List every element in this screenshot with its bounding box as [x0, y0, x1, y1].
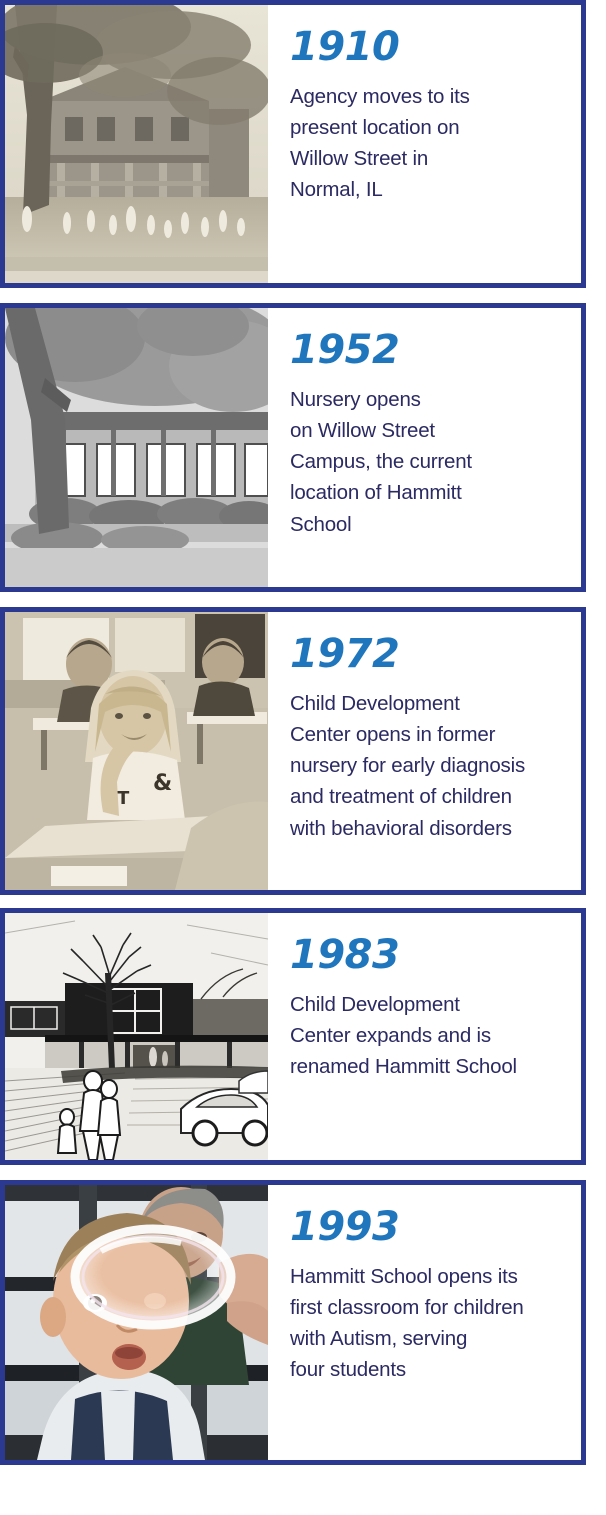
timeline-card-text: 1983 Child Development Center expands an… [268, 913, 581, 1160]
svg-text:&: & [153, 771, 172, 796]
timeline-year: 1910 [290, 27, 567, 67]
timeline-card: 1910 Agency moves to its present locatio… [0, 0, 586, 288]
timeline-description: Child Development Center opens in former… [290, 688, 567, 844]
timeline-description: Hammitt School opens its first classroom… [290, 1261, 567, 1386]
timeline-card: 1993 Hammitt School opens its first clas… [0, 1180, 586, 1465]
photo-1952-nursery-building [5, 308, 268, 587]
timeline-card: 1952 Nursery opens on Willow Street Camp… [0, 303, 586, 592]
svg-text:T: T [117, 788, 130, 809]
timeline-year: 1952 [290, 330, 567, 370]
timeline-card-text: 1993 Hammitt School opens its first clas… [268, 1185, 581, 1460]
photo-1993-boy-bubble [5, 1185, 268, 1460]
timeline-card: & T 1972 Child Development Center opens … [0, 607, 586, 895]
photo-1983-architectural-drawing [5, 913, 268, 1160]
timeline-card-text: 1972 Child Development Center opens in f… [268, 612, 581, 890]
timeline-card-text: 1952 Nursery opens on Willow Street Camp… [268, 308, 581, 587]
timeline-year: 1993 [290, 1207, 567, 1247]
timeline-description: Child Development Center expands and is … [290, 989, 567, 1082]
timeline-year: 1983 [290, 935, 567, 975]
timeline-description: Nursery opens on Willow Street Campus, t… [290, 384, 567, 540]
timeline-card-text: 1910 Agency moves to its present locatio… [268, 5, 581, 283]
timeline-card: 1983 Child Development Center expands an… [0, 908, 586, 1165]
timeline-description: Agency moves to its present location on … [290, 81, 567, 206]
photo-1910-house-lawn [5, 5, 268, 283]
photo-1972-classroom-girl: & T [5, 612, 268, 890]
timeline-container: 1910 Agency moves to its present locatio… [0, 0, 606, 1515]
timeline-year: 1972 [290, 634, 567, 674]
